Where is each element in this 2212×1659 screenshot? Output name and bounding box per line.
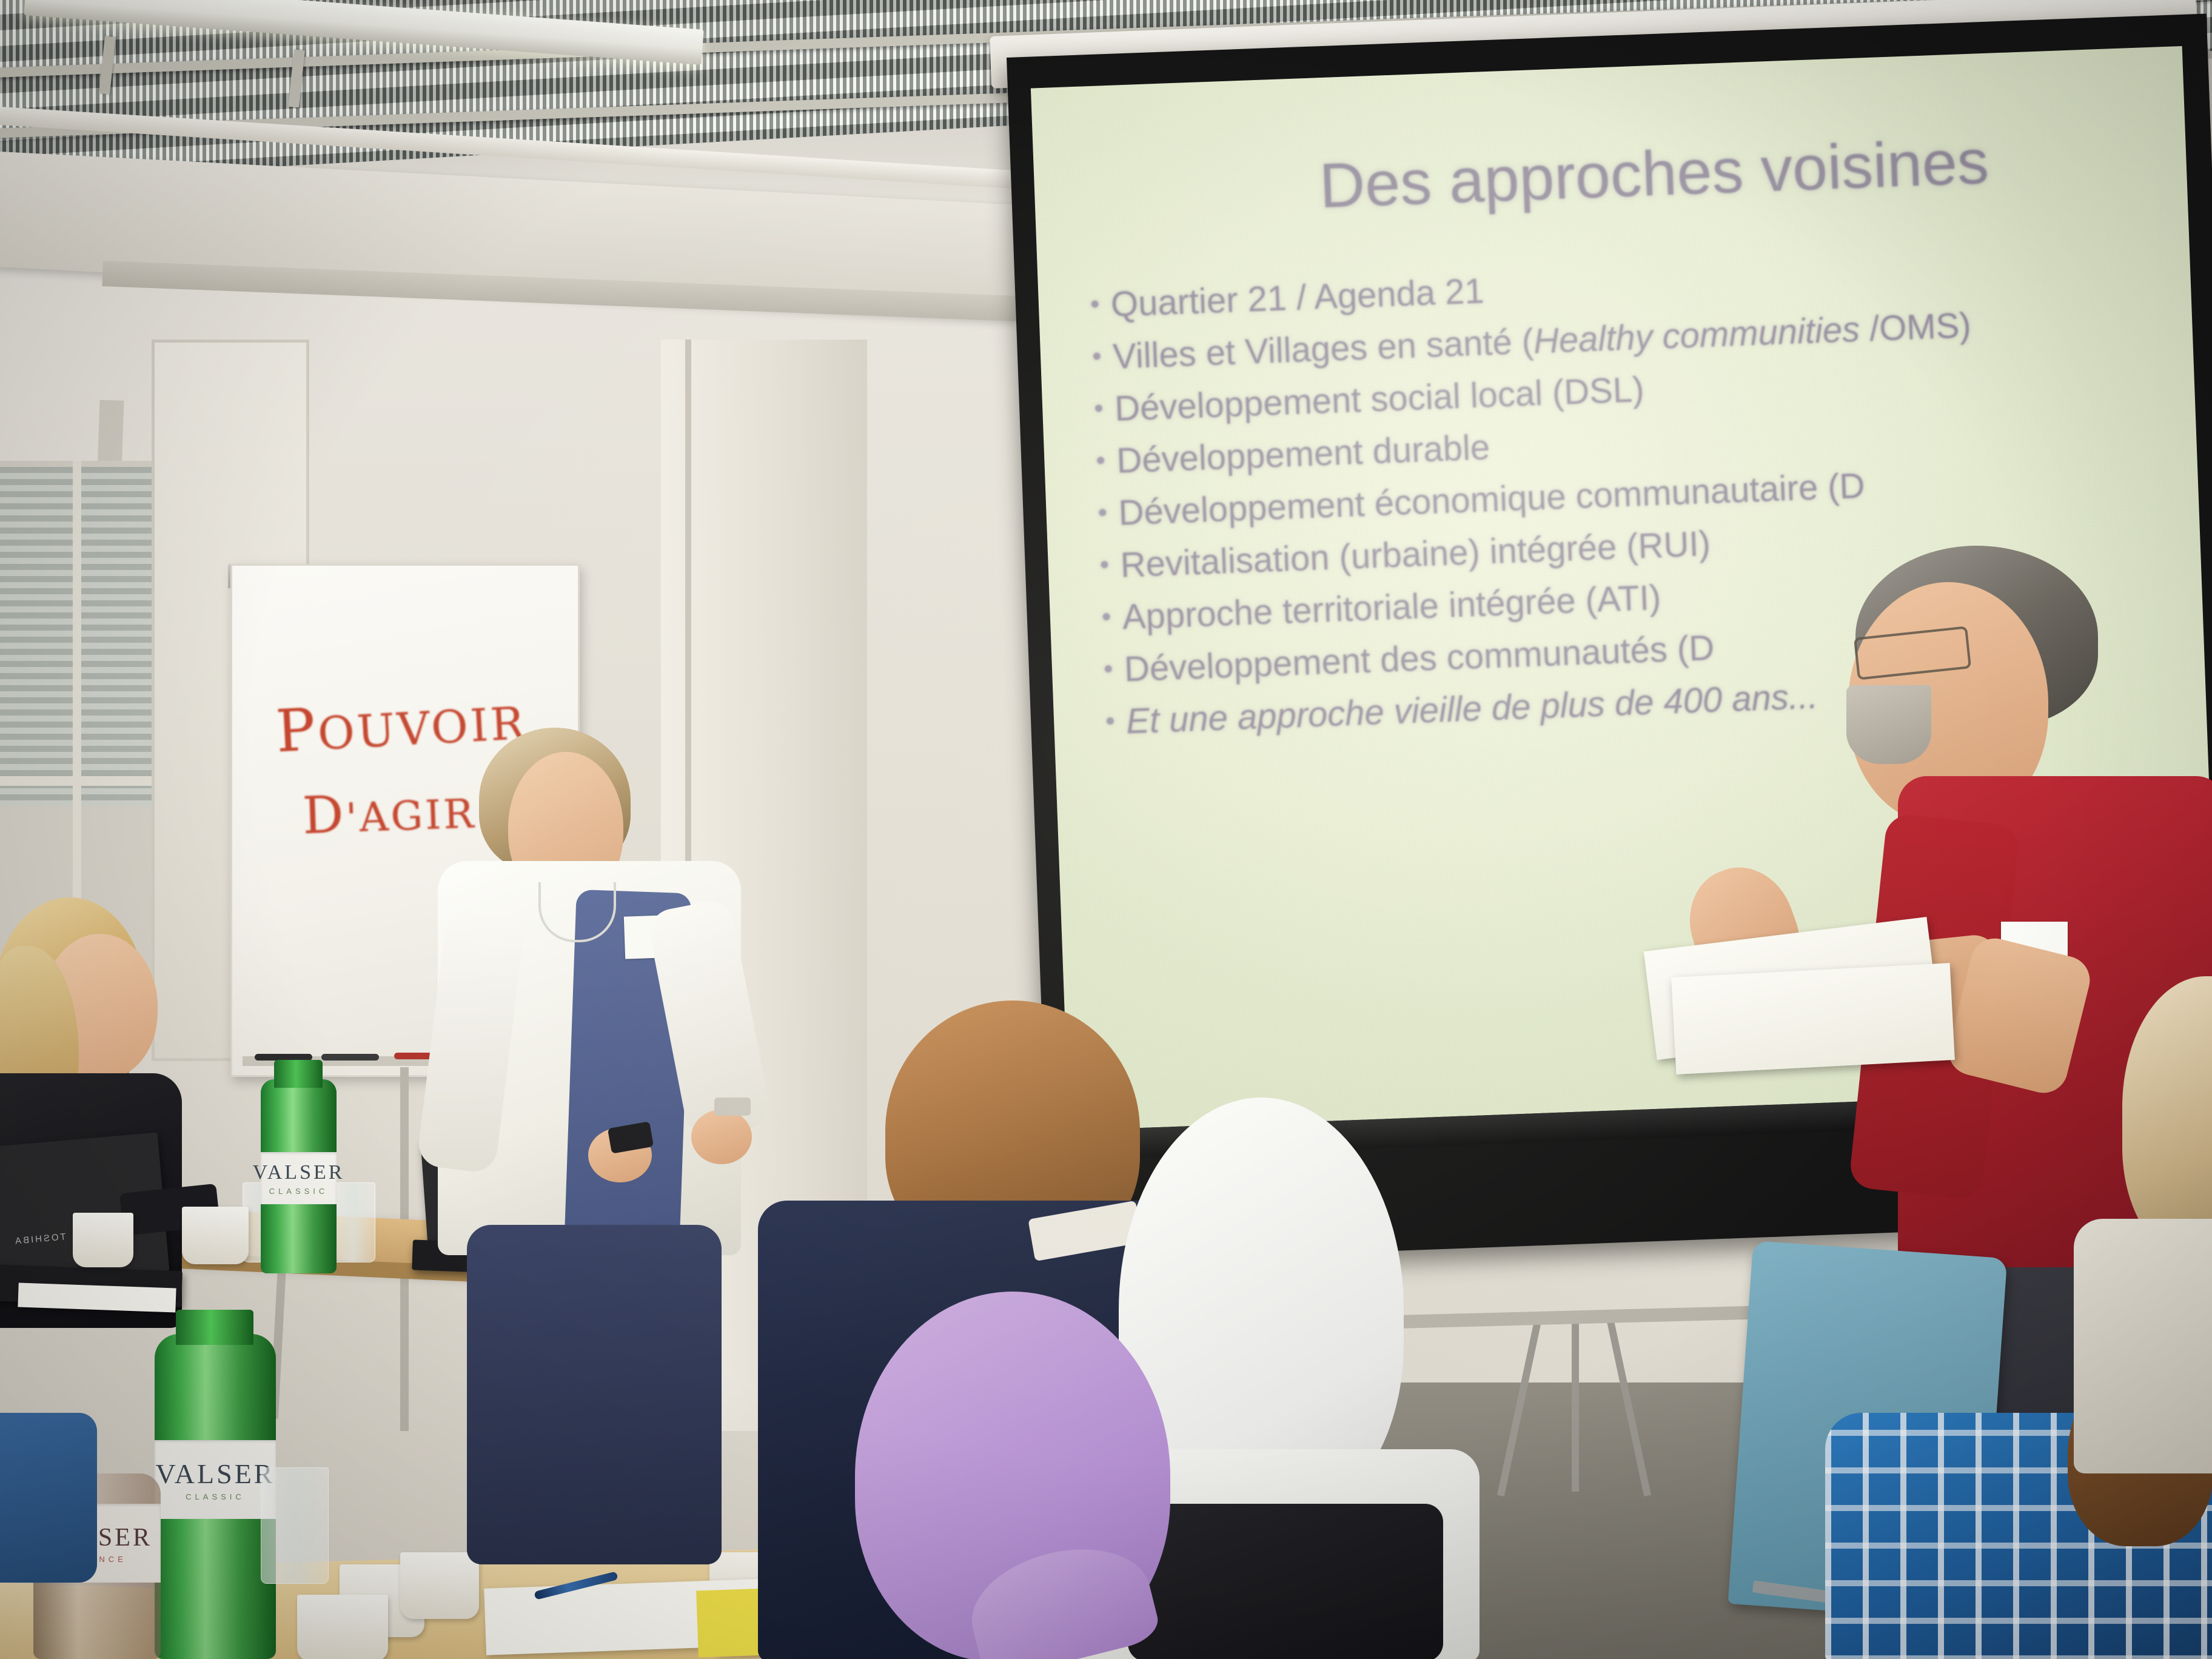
bullet-dot-icon: •	[1095, 442, 1117, 479]
water-bottle-valser-green[interactable]: VALSER CLASSIC	[261, 1079, 337, 1273]
handout-papers[interactable]	[1671, 963, 1955, 1074]
bullet-dot-icon: •	[1099, 546, 1121, 583]
water-bottle-valser-green-large[interactable]: VALSER CLASSIC	[155, 1334, 276, 1659]
bullet-dot-icon: •	[1091, 338, 1113, 375]
bottle-label: VALSER CLASSIC	[155, 1440, 276, 1519]
bottle-brand: VALSER	[253, 1161, 345, 1184]
photo-scene: POUVOIR D'AGIR PROJECTA Des approches vo…	[0, 0, 2212, 1659]
bracelet	[714, 1098, 751, 1116]
bottle-brand: VALSER	[156, 1458, 275, 1490]
bottle-variant: CLASSIC	[186, 1492, 245, 1501]
bullet-dot-icon: •	[1103, 650, 1125, 687]
marker-black[interactable]	[321, 1054, 379, 1061]
torso	[2074, 1219, 2212, 1473]
bullet-dot-icon: •	[1098, 494, 1119, 531]
bullet-dot-icon: •	[1090, 286, 1111, 323]
screen-tripod	[1443, 1316, 1783, 1516]
laptop-brand-label: TOSHIBA	[13, 1232, 66, 1246]
dark-trousers	[467, 1225, 722, 1564]
bottle-label: VALSER CLASSIC	[261, 1152, 337, 1204]
paper-cup[interactable]	[400, 1552, 479, 1619]
paper-cup[interactable]	[73, 1213, 133, 1267]
bottle-cap[interactable]	[176, 1310, 253, 1345]
goatee-beard	[1846, 685, 1931, 764]
dark-garment	[1128, 1504, 1443, 1659]
paper-cup[interactable]	[182, 1207, 249, 1264]
bottle-variant: CLASSIC	[269, 1187, 329, 1196]
paper-cup[interactable]	[297, 1595, 388, 1659]
blue-garment	[0, 1413, 97, 1583]
bullet-dot-icon: •	[1105, 702, 1127, 739]
drinking-glass[interactable]	[261, 1467, 329, 1584]
drinking-glass[interactable]	[330, 1182, 375, 1262]
bullet-dot-icon: •	[1101, 598, 1123, 635]
slide-title: Des approches voisines	[1318, 126, 1990, 223]
hand-right	[691, 1110, 752, 1164]
bottle-cap[interactable]	[274, 1060, 323, 1088]
flipchart-line-1: POUVOIR	[274, 685, 520, 766]
bullet-dot-icon: •	[1093, 390, 1115, 427]
